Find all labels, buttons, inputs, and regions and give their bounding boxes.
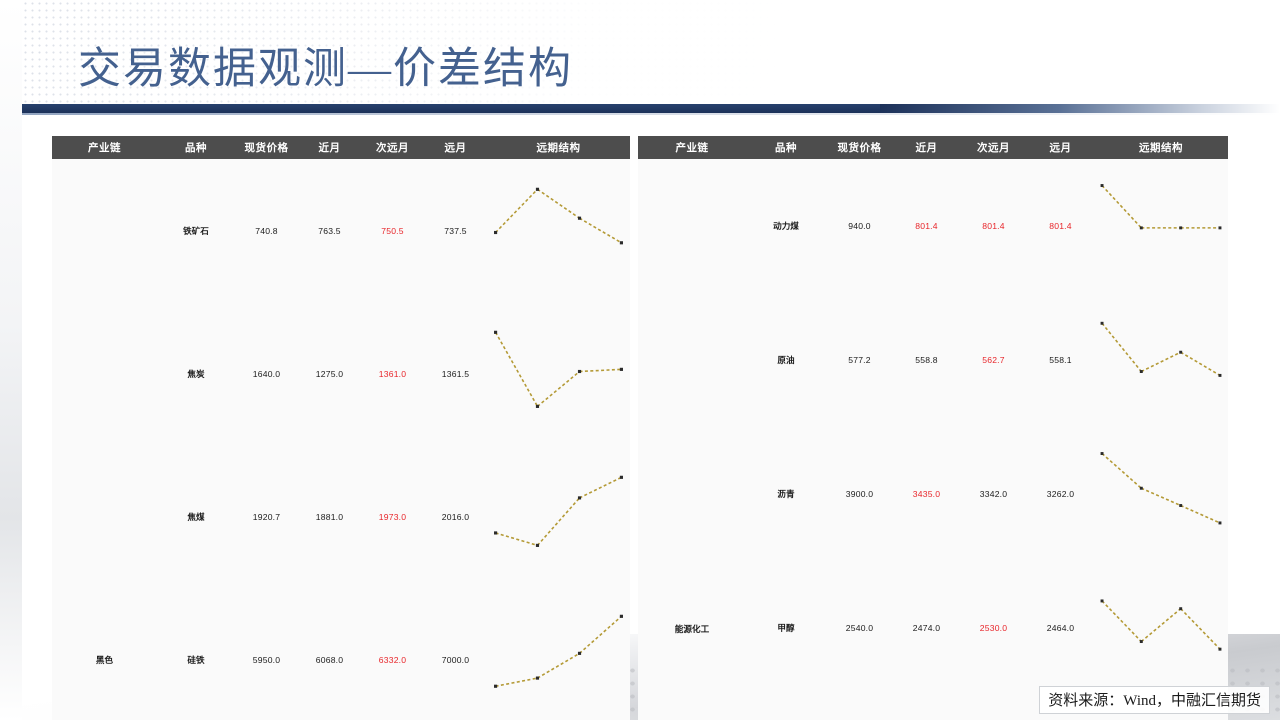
price-cell-mid: 7605.0: [960, 695, 1027, 720]
right-col-header-4: 次远月: [960, 136, 1027, 159]
right-table-body: 能源化工动力煤940.0801.4801.4801.4原油577.2558.85…: [638, 159, 1228, 720]
left-col-header-1: 品种: [157, 136, 235, 159]
price-cell-mid: 801.4: [960, 159, 1027, 293]
price-cell-spot: 577.2: [826, 293, 893, 427]
forward-curve-sparkline: [487, 588, 630, 720]
forward-structure-cell: [487, 302, 630, 445]
variety-cell: 焦炭: [157, 302, 235, 445]
right-col-header-5: 远月: [1027, 136, 1094, 159]
left-table-body: 黑色铁矿石740.8763.5750.5737.5焦炭1640.01275.01…: [52, 159, 630, 720]
variety-cell: 焦煤: [157, 445, 235, 588]
price-cell-near: 1881.0: [298, 445, 361, 588]
slide-canvas: 交易数据观测—价差结构 产业链品种现货价格近月次远月远月远期结构 黑色铁矿石74…: [0, 0, 1280, 720]
variety-cell: 原油: [746, 293, 826, 427]
forward-structure-cell: [487, 445, 630, 588]
price-cell-spot: 1920.7: [235, 445, 298, 588]
source-note: 资料来源：Wind，中融汇信期货: [1039, 686, 1270, 714]
forward-structure-cell: [1094, 427, 1228, 561]
price-cell-near: 7615.0: [893, 695, 960, 720]
left-col-header-5: 远月: [424, 136, 487, 159]
left-col-header-4: 次远月: [361, 136, 424, 159]
forward-curve-sparkline: [487, 302, 630, 445]
price-cell-mid: 562.7: [960, 293, 1027, 427]
variety-cell: 硅铁: [157, 588, 235, 720]
price-structure-table-left: 产业链品种现货价格近月次远月远月远期结构 黑色铁矿石740.8763.5750.…: [52, 136, 630, 720]
price-structure-table-right: 产业链品种现货价格近月次远月远月远期结构 能源化工动力煤940.0801.480…: [638, 136, 1228, 720]
title-accent-bar: [0, 104, 880, 113]
price-cell-near: 2474.0: [893, 561, 960, 695]
price-cell-far: 2464.0: [1027, 561, 1094, 695]
price-cell-spot: 1640.0: [235, 302, 298, 445]
price-cell-mid: 2530.0: [960, 561, 1027, 695]
price-cell-far: 801.4: [1027, 159, 1094, 293]
table-row[interactable]: 黑色铁矿石740.8763.5750.5737.5: [52, 159, 630, 302]
price-cell-far: 7000.0: [424, 588, 487, 720]
table-row[interactable]: 能源化工动力煤940.0801.4801.4801.4: [638, 159, 1228, 293]
left-table-head: 产业链品种现货价格近月次远月远月远期结构: [52, 136, 630, 159]
right-col-header-6: 远期结构: [1094, 136, 1228, 159]
forward-structure-cell: [1094, 561, 1228, 695]
left-rail: [0, 0, 22, 720]
price-cell-mid: 1973.0: [361, 445, 424, 588]
forward-curve-sparkline: [1094, 293, 1228, 427]
forward-structure-cell: [487, 588, 630, 720]
price-cell-near: 801.4: [893, 159, 960, 293]
left-header-row: 产业链品种现货价格近月次远月远月远期结构: [52, 136, 630, 159]
variety-cell: 聚丙烯: [746, 695, 826, 720]
price-cell-spot: 740.8: [235, 159, 298, 302]
price-cell-spot: 940.0: [826, 159, 893, 293]
price-cell-spot: 5950.0: [235, 588, 298, 720]
price-cell-far: 3262.0: [1027, 427, 1094, 561]
forward-structure-cell: [1094, 159, 1228, 293]
industry-chain-cell: 能源化工: [638, 159, 746, 720]
right-header-row: 产业链品种现货价格近月次远月远月远期结构: [638, 136, 1228, 159]
right-col-header-0: 产业链: [638, 136, 746, 159]
price-cell-far: 737.5: [424, 159, 487, 302]
price-cell-spot: 3900.0: [826, 427, 893, 561]
forward-curve-sparkline: [487, 159, 630, 302]
price-cell-near: 763.5: [298, 159, 361, 302]
right-col-header-2: 现货价格: [826, 136, 893, 159]
right-table-panel: 产业链品种现货价格近月次远月远月远期结构 能源化工动力煤940.0801.480…: [638, 136, 1228, 692]
variety-cell: 动力煤: [746, 159, 826, 293]
price-cell-near: 558.8: [893, 293, 960, 427]
left-col-header-6: 远期结构: [487, 136, 630, 159]
price-cell-spot: 2540.0: [826, 561, 893, 695]
variety-cell: 甲醇: [746, 561, 826, 695]
right-col-header-3: 近月: [893, 136, 960, 159]
forward-curve-sparkline: [487, 445, 630, 588]
price-cell-far: 2016.0: [424, 445, 487, 588]
right-table-head: 产业链品种现货价格近月次远月远月远期结构: [638, 136, 1228, 159]
price-cell-near: 1275.0: [298, 302, 361, 445]
forward-structure-cell: [487, 159, 630, 302]
forward-curve-sparkline: [1094, 159, 1228, 293]
price-cell-spot: 8480.0: [826, 695, 893, 720]
title-accent-bar-tail: [880, 104, 1280, 113]
industry-chain-cell: 黑色: [52, 159, 157, 720]
forward-structure-cell: [1094, 293, 1228, 427]
price-cell-mid: 3342.0: [960, 427, 1027, 561]
forward-curve-sparkline: [1094, 561, 1228, 695]
price-cell-far: 1361.5: [424, 302, 487, 445]
left-col-header-0: 产业链: [52, 136, 157, 159]
price-cell-mid: 1361.0: [361, 302, 424, 445]
variety-cell: 铁矿石: [157, 159, 235, 302]
price-cell-far: 558.1: [1027, 293, 1094, 427]
forward-curve-sparkline: [1094, 427, 1228, 561]
price-cell-near: 3435.0: [893, 427, 960, 561]
variety-cell: 沥青: [746, 427, 826, 561]
page-title: 交易数据观测—价差结构: [78, 34, 573, 96]
left-table-panel: 产业链品种现货价格近月次远月远月远期结构 黑色铁矿石740.8763.5750.…: [52, 136, 630, 692]
tables-container: 产业链品种现货价格近月次远月远月远期结构 黑色铁矿石740.8763.5750.…: [52, 136, 1228, 692]
price-cell-near: 6068.0: [298, 588, 361, 720]
left-col-header-3: 近月: [298, 136, 361, 159]
price-cell-mid: 750.5: [361, 159, 424, 302]
right-col-header-1: 品种: [746, 136, 826, 159]
left-rail-gradient: [0, 0, 22, 720]
left-col-header-2: 现货价格: [235, 136, 298, 159]
price-cell-mid: 6332.0: [361, 588, 424, 720]
title-accent-hairline: [0, 113, 1280, 115]
